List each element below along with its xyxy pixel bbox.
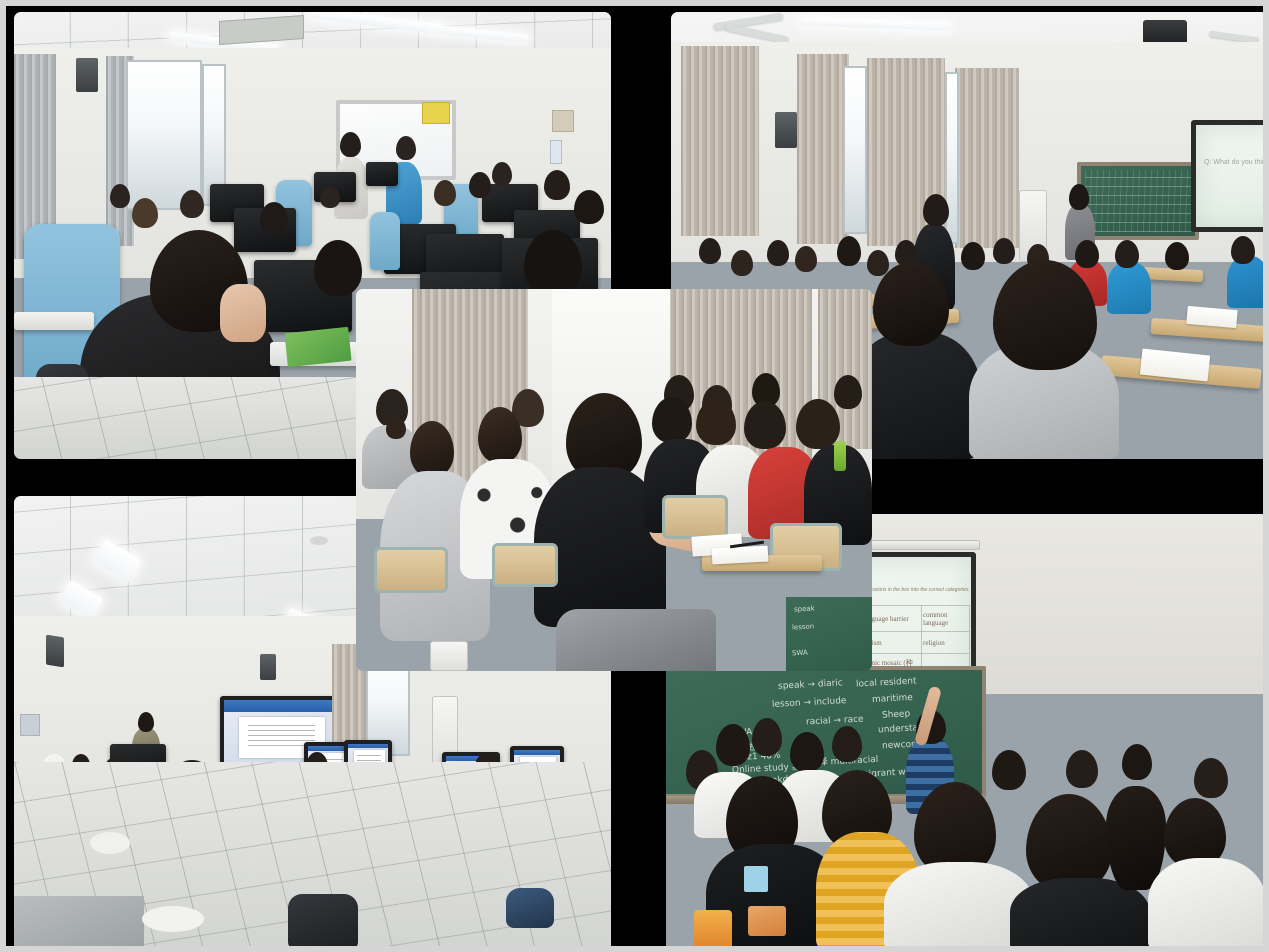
attendee-head <box>652 397 692 443</box>
student-head <box>132 198 158 228</box>
wall-speaker <box>76 58 98 92</box>
photo-collage: Q: What do you think <box>0 0 1269 952</box>
photo-panel-center[interactable]: speak lesson SWA <box>356 289 872 671</box>
foreground-student-hands <box>220 284 266 342</box>
student-head <box>790 732 824 772</box>
window-titlebar <box>224 700 334 712</box>
lanyard-card <box>748 906 786 936</box>
teacher-head <box>1069 184 1089 210</box>
attendee-head <box>696 399 736 445</box>
student-head <box>180 190 204 218</box>
student-head <box>1066 750 1098 788</box>
wall-speaker <box>260 654 276 680</box>
projector-text: Q: What do you think <box>1204 159 1268 166</box>
window-curtain <box>681 46 759 236</box>
whiteboard-notice <box>422 102 450 124</box>
chalk-note: local resident <box>856 676 917 689</box>
attendee-head <box>478 407 522 463</box>
notebook <box>712 546 769 565</box>
student-head <box>1122 744 1152 780</box>
lanyard-badge <box>744 866 768 892</box>
student-torso-blue <box>1227 256 1268 308</box>
student-head <box>1115 240 1139 268</box>
air-conditioner <box>430 641 468 671</box>
chair-back <box>492 543 558 587</box>
desk-partition <box>370 212 400 270</box>
wall-panel <box>552 110 574 132</box>
student-head <box>961 242 985 270</box>
window <box>843 66 867 234</box>
student-head <box>320 186 340 208</box>
student-head <box>314 240 362 296</box>
student-head <box>767 240 789 266</box>
student-head <box>544 170 570 200</box>
student-head <box>1165 242 1189 270</box>
chalk-note: maritime <box>872 693 913 705</box>
drink-bottle <box>694 910 732 952</box>
ceiling-smoke-detector <box>310 536 328 545</box>
attendee-head-bun <box>386 417 406 439</box>
blackboard <box>1077 162 1199 240</box>
student-head <box>574 190 604 224</box>
student-head <box>731 250 753 276</box>
vocab-cell: common language <box>923 611 967 627</box>
lab-stool <box>142 906 204 932</box>
student-head <box>795 246 817 272</box>
student-head <box>867 250 889 276</box>
student-head <box>699 238 721 264</box>
student-torso-white <box>1148 858 1266 952</box>
lab-desk <box>14 312 94 330</box>
attendee-head <box>744 401 786 449</box>
wall-speaker <box>775 112 797 148</box>
student-head <box>716 724 750 766</box>
monitor <box>366 162 398 186</box>
window-titlebar <box>514 750 560 755</box>
window-titlebar <box>348 744 388 748</box>
chalk-note: lesson <box>792 622 815 631</box>
instructor-head <box>396 136 416 160</box>
student-head <box>832 726 862 762</box>
student-head <box>993 238 1015 264</box>
student-head <box>434 180 456 206</box>
drink-bottle-green <box>834 441 846 471</box>
ceiling-projector <box>1143 20 1187 44</box>
student-head <box>469 172 491 198</box>
attendee-trousers <box>556 609 716 671</box>
instructor-head <box>138 712 154 732</box>
wall-speaker <box>46 635 64 668</box>
attendee-head <box>834 375 862 409</box>
backpack <box>288 894 358 950</box>
student-head <box>837 236 861 266</box>
floor-step <box>14 896 144 952</box>
chalk-note: racial → race <box>806 714 864 727</box>
standing-student-head <box>923 194 949 226</box>
lab-stool <box>90 832 130 854</box>
student-head <box>260 202 288 234</box>
attendee-head <box>410 421 454 477</box>
window-curtain <box>797 54 849 244</box>
student-head <box>1075 240 1099 268</box>
chair-back <box>662 495 728 539</box>
student-head <box>492 162 512 186</box>
student-head <box>1231 236 1255 264</box>
chalk-note: lesson → include <box>772 696 847 710</box>
student-head <box>1194 758 1228 798</box>
chalk-note: speak <box>794 604 815 613</box>
wall-switch <box>550 140 562 164</box>
chalk-note: Sheep <box>882 709 911 720</box>
projector-screen: Q: What do you think <box>1191 120 1268 232</box>
wall-panel <box>20 714 40 736</box>
student-head <box>992 750 1026 790</box>
blackboard-edge: speak lesson SWA <box>786 597 872 671</box>
backpack <box>506 888 554 928</box>
attendee-head <box>796 399 840 449</box>
chair-back <box>374 547 448 593</box>
window-curtain <box>955 68 1019 248</box>
student-head <box>110 184 130 208</box>
vocab-cell: religion <box>923 639 945 647</box>
window <box>126 60 202 210</box>
chalk-note: speak → diaric <box>778 678 843 691</box>
scene-seated-audience-closeup: speak lesson SWA <box>356 289 872 671</box>
student-torso-blue <box>1107 262 1151 314</box>
student-head <box>752 718 782 756</box>
standing-student-head <box>340 132 361 157</box>
desk-leaflet <box>284 327 351 368</box>
chalk-note: SWA <box>792 649 808 658</box>
